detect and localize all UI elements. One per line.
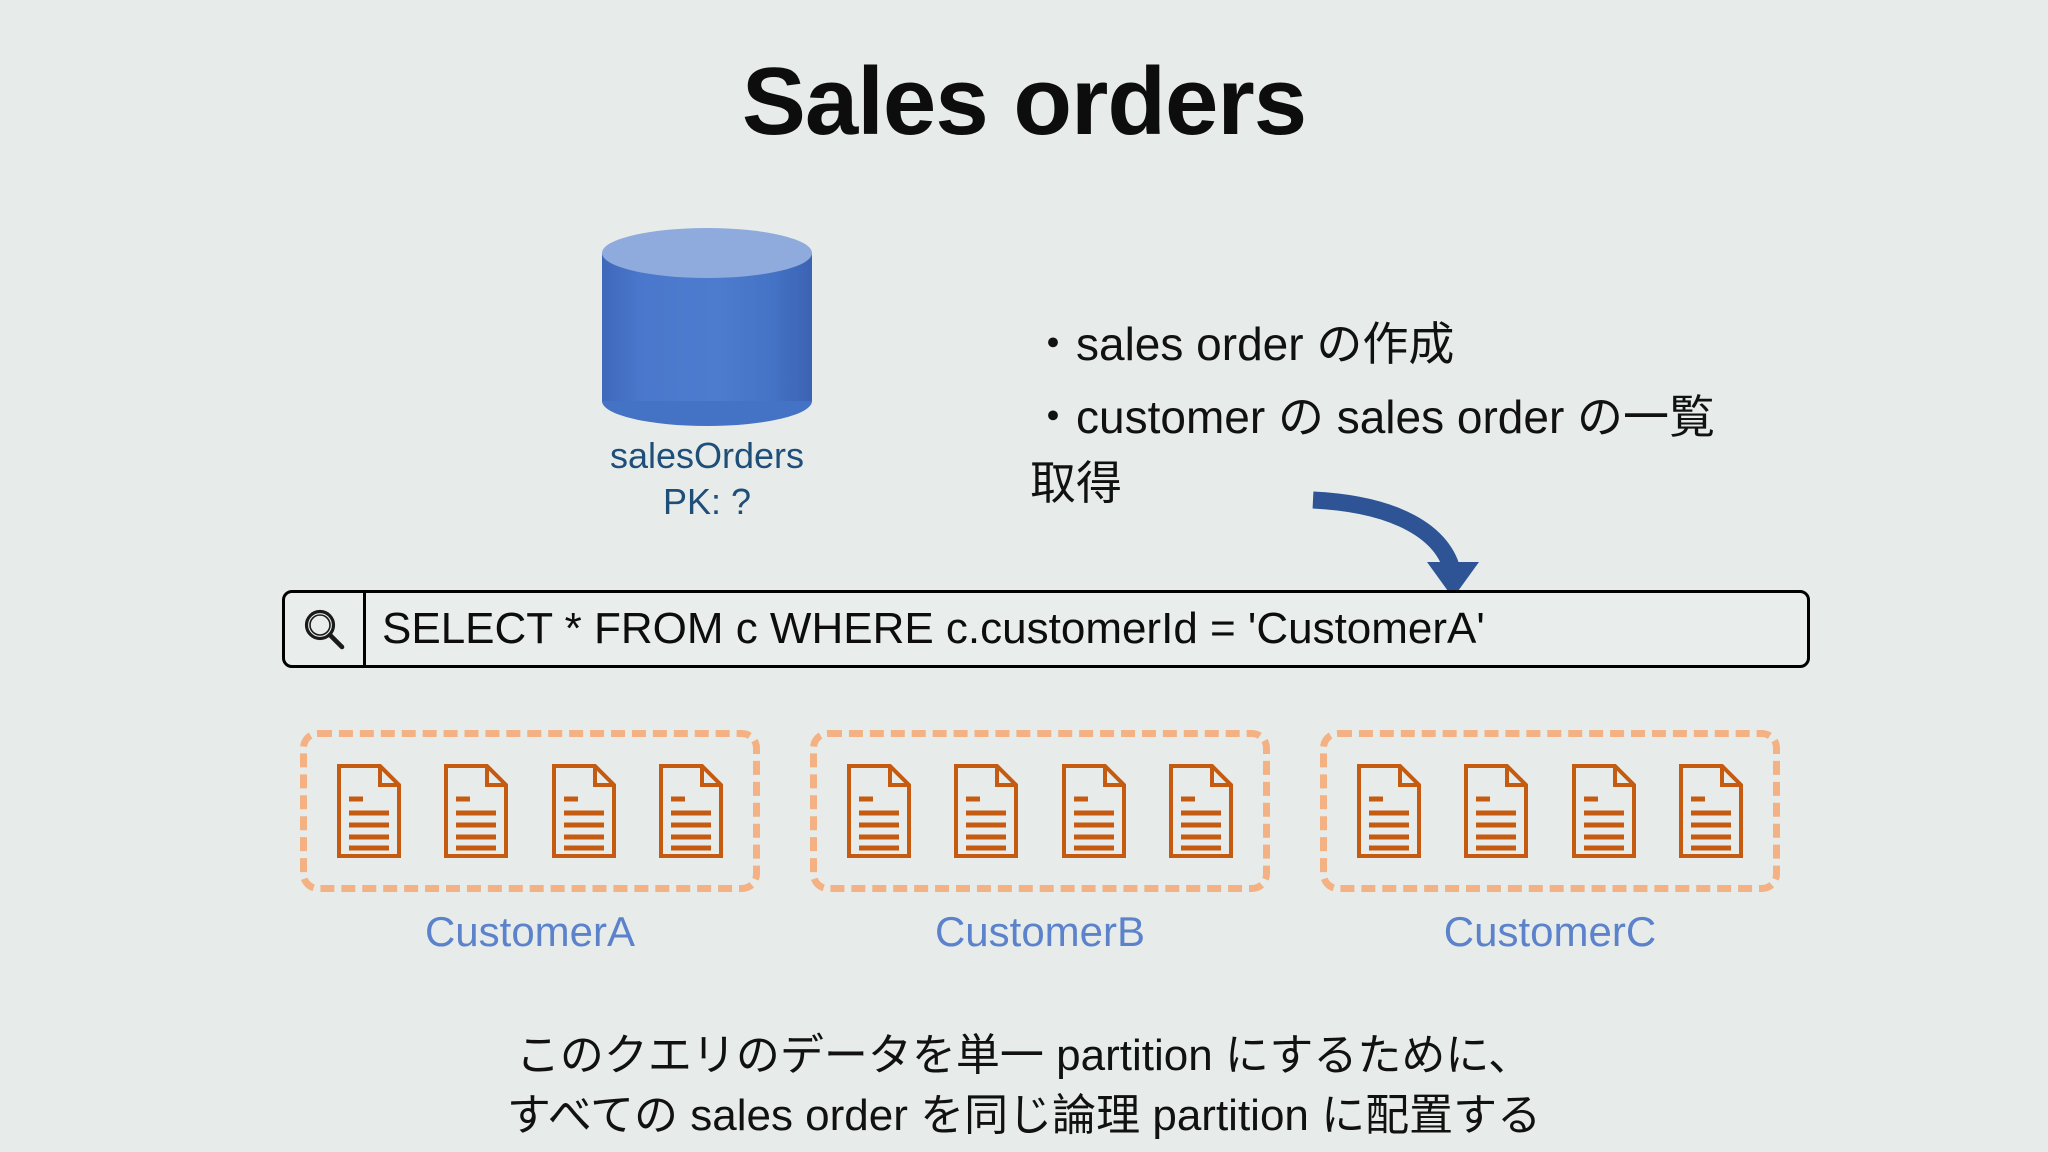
database-partition-key: PK: ? [532,479,882,525]
curved-down-arrow-icon [1295,470,1535,598]
partition-row: CustomerA [300,730,1780,956]
database-labels: salesOrders PK: ? [532,433,882,525]
document-icon [1168,763,1234,859]
partition-group: CustomerC [1320,730,1780,956]
list-item: ・sales order の作成 [1030,312,1960,377]
database-group: salesOrders PK: ? [602,228,812,426]
partition-label: CustomerA [300,908,760,956]
partition-group: CustomerA [300,730,760,956]
partition-box [300,730,760,892]
document-icon [1571,763,1637,859]
cylinder-top [602,228,812,278]
document-icon [1356,763,1422,859]
document-icon [443,763,509,859]
caption-line: このクエリのデータを単一 partition にするために、 [0,1026,2048,1086]
database-cylinder-icon [602,228,812,426]
partition-group: CustomerB [810,730,1270,956]
query-search-box[interactable]: SELECT * FROM c WHERE c.customerId = 'Cu… [282,590,1810,668]
partition-box [1320,730,1780,892]
slide-canvas: Sales orders salesOrders PK: ? ・sales or… [0,0,2048,1152]
search-icon[interactable] [285,593,366,665]
document-icon [846,763,912,859]
caption-block: このクエリのデータを単一 partition にするために、 すべての sale… [0,1026,2048,1146]
page-title: Sales orders [0,48,2048,156]
document-icon [658,763,724,859]
document-icon [1463,763,1529,859]
document-icon [1678,763,1744,859]
document-icon [551,763,617,859]
document-icon [1061,763,1127,859]
caption-line: すべての sales order を同じ論理 partition に配置する [0,1086,2048,1146]
document-icon [336,763,402,859]
partition-box [810,730,1270,892]
database-name: salesOrders [532,433,882,479]
partition-label: CustomerC [1320,908,1780,956]
partition-label: CustomerB [810,908,1270,956]
document-icon [953,763,1019,859]
query-text[interactable]: SELECT * FROM c WHERE c.customerId = 'Cu… [366,604,1485,654]
